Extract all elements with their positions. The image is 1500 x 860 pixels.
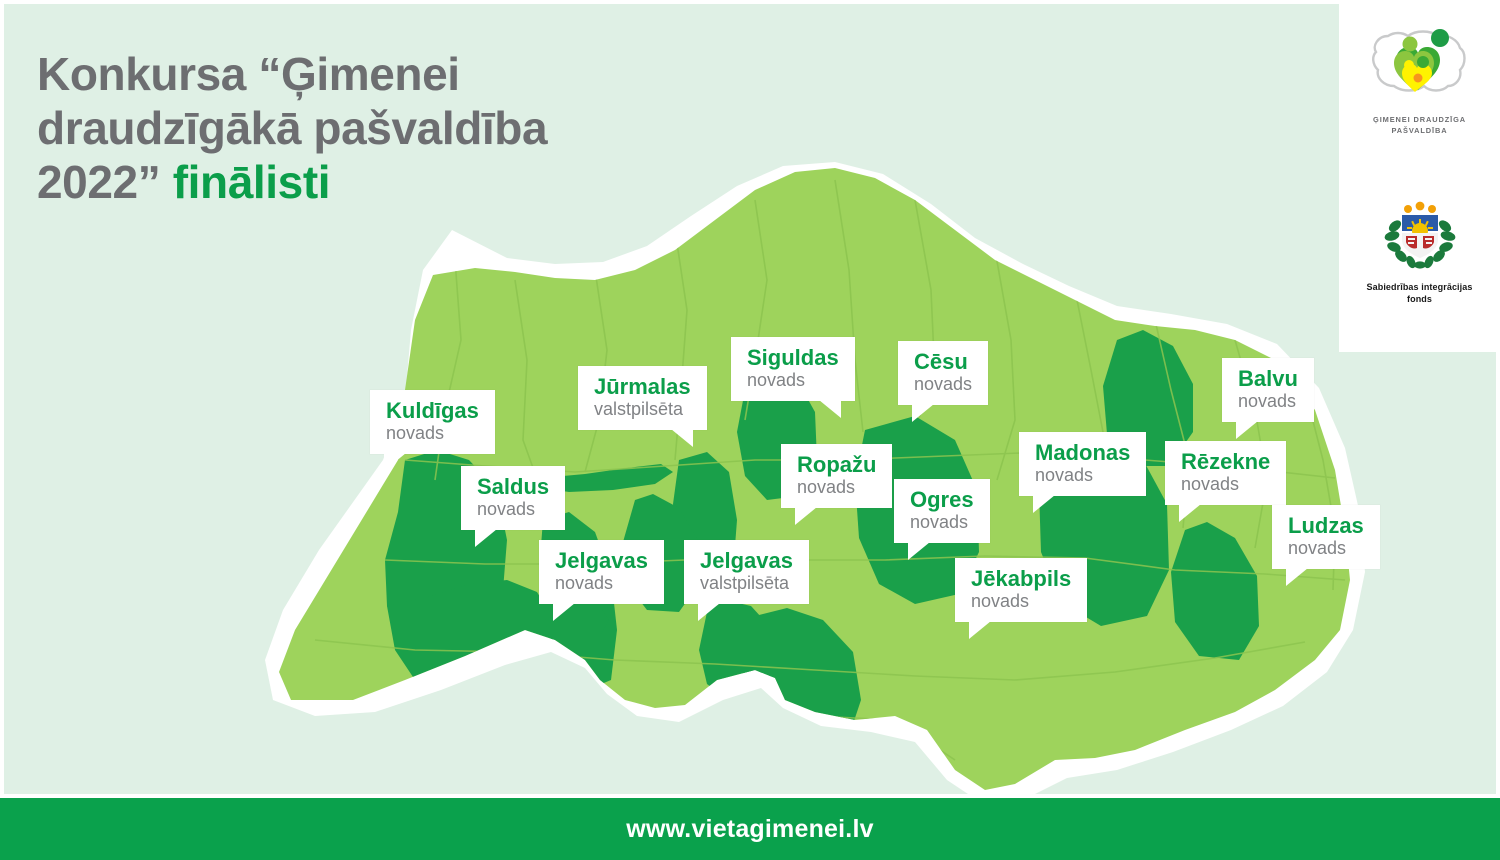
map-label-title: Kuldīgas <box>386 399 479 422</box>
map-label-sigulda[interactable]: Siguldasnovads <box>731 337 855 401</box>
map-label-title: Jēkabpils <box>971 567 1071 590</box>
map-label-rezekne[interactable]: Rēzeknenovads <box>1165 441 1286 505</box>
map-label-subtitle: novads <box>477 499 549 520</box>
map-label-kuldiga[interactable]: Kuldīgasnovads <box>370 390 495 454</box>
map-label-title: Ogres <box>910 488 974 511</box>
map-label-jurmala[interactable]: Jūrmalasvalstpilsēta <box>578 366 707 430</box>
map-label-jelgavas-pilseta[interactable]: Jelgavasvalstpilsēta <box>684 540 809 604</box>
map-label-subtitle: novads <box>555 573 648 594</box>
map-label-ogre[interactable]: Ogresnovads <box>894 479 990 543</box>
map-label-subtitle: novads <box>386 423 479 444</box>
map-label-title: Jelgavas <box>555 549 648 572</box>
map-label-subtitle: novads <box>747 370 839 391</box>
map-label-subtitle: novads <box>797 477 876 498</box>
map-label-jelgavas-novads[interactable]: Jelgavasnovads <box>539 540 664 604</box>
poster-root: Konkursa “Ģimenei draudzīgākā pašvaldība… <box>0 0 1500 860</box>
map-label-title: Balvu <box>1238 367 1298 390</box>
map-label-madona[interactable]: Madonasnovads <box>1019 432 1146 496</box>
family-logo-caption: ĢIMENEI DRAUDZĪGA PAŠVALDĪBA <box>1339 115 1500 136</box>
society-integration-foundation-logo: Sabiedrības integrācijas fonds <box>1339 200 1500 305</box>
website-url[interactable]: www.vietagimenei.lv <box>626 815 873 844</box>
map-label-subtitle: novads <box>1288 538 1364 559</box>
family-logo-caption-line-2: PAŠVALDĪBA <box>1339 126 1500 137</box>
map-label-subtitle: novads <box>914 374 972 395</box>
family-friendly-municipality-logo: ĢIMENEI DRAUDZĪGA PAŠVALDĪBA <box>1339 22 1500 136</box>
family-logo-caption-line-1: ĢIMENEI DRAUDZĪGA <box>1339 115 1500 126</box>
map-label-title: Saldus <box>477 475 549 498</box>
map-label-subtitle: novads <box>910 512 974 533</box>
title-year: 2022” <box>37 156 173 208</box>
fonds-logo-caption-line-2: fonds <box>1339 294 1500 306</box>
map-label-title: Jūrmalas <box>594 375 691 398</box>
map-label-subtitle: novads <box>971 591 1071 612</box>
footer-bar: www.vietagimenei.lv <box>0 798 1500 860</box>
map-label-jekabpils[interactable]: Jēkabpilsnovads <box>955 558 1087 622</box>
map-label-balvi[interactable]: Balvunovads <box>1222 358 1314 422</box>
map-label-ropazi[interactable]: Ropažunovads <box>781 444 892 508</box>
map-label-title: Cēsu <box>914 350 972 373</box>
logo-panel: ĢIMENEI DRAUDZĪGA PAŠVALDĪBA <box>1339 0 1500 352</box>
map-label-ludza[interactable]: Ludzasnovads <box>1272 505 1380 569</box>
map-label-title: Jelgavas <box>700 549 793 572</box>
map-label-subtitle: novads <box>1238 391 1298 412</box>
map-label-subtitle: novads <box>1181 474 1270 495</box>
map-label-title: Ropažu <box>797 453 876 476</box>
map-label-title: Rēzekne <box>1181 450 1270 473</box>
family-heart-icon <box>1368 22 1472 106</box>
map-label-title: Ludzas <box>1288 514 1364 537</box>
map-label-title: Madonas <box>1035 441 1130 464</box>
map-label-subtitle: valstpilsēta <box>594 399 691 420</box>
fonds-logo-caption-line-1: Sabiedrības integrācijas <box>1339 282 1500 294</box>
latvia-coat-of-arms-icon <box>1381 200 1459 272</box>
title-line-2: draudzīgākā pašvaldība <box>37 102 797 156</box>
map-label-title: Siguldas <box>747 346 839 369</box>
map-label-cesis[interactable]: Cēsunovads <box>898 341 988 405</box>
fonds-logo-caption: Sabiedrības integrācijas fonds <box>1339 282 1500 305</box>
title-line-1: Konkursa “Ģimenei <box>37 48 797 102</box>
map-label-saldus[interactable]: Saldusnovads <box>461 466 565 530</box>
map-label-subtitle: valstpilsēta <box>700 573 793 594</box>
map-label-subtitle: novads <box>1035 465 1130 486</box>
